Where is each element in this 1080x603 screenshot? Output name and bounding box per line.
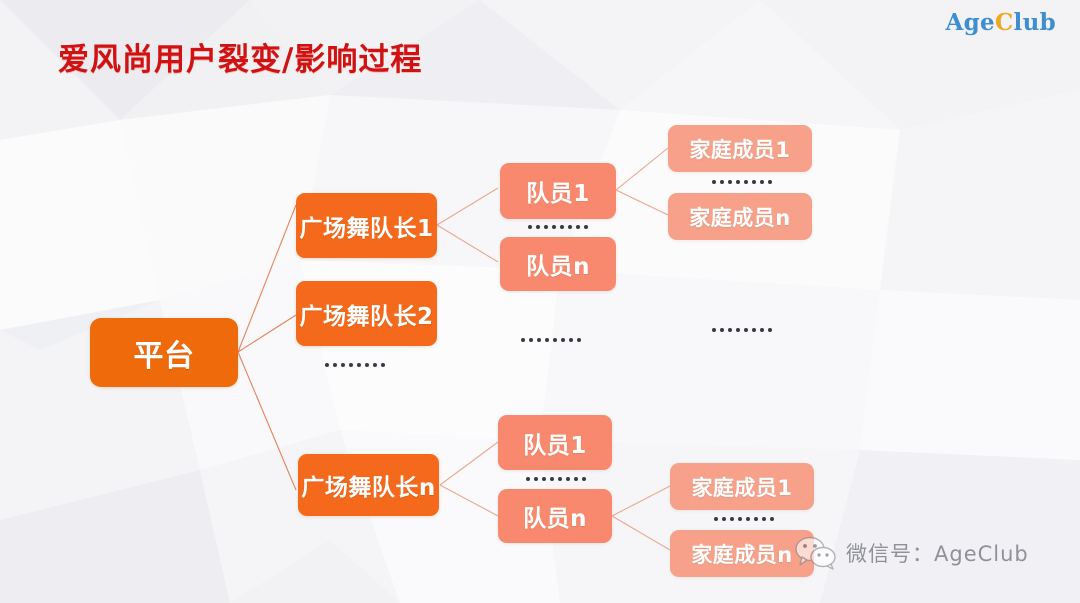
ellipsis-members-top xyxy=(528,225,588,229)
ellipsis-middle-right xyxy=(712,328,772,332)
node-leader-2[interactable]: 广场舞队长2 xyxy=(296,281,437,346)
ellipsis-leaders xyxy=(325,363,385,367)
watermark-text: 微信号：AgeClub xyxy=(846,538,1029,568)
wechat-icon xyxy=(795,536,837,570)
node-leader-1[interactable]: 广场舞队长1 xyxy=(296,193,437,258)
node-member-bottom-n[interactable]: 队员n xyxy=(498,489,612,543)
ellipsis-members-bottom xyxy=(526,477,586,481)
ellipsis-family-bottom xyxy=(714,517,774,521)
wechat-watermark: 微信号：AgeClub xyxy=(795,536,1029,570)
node-family-top-1[interactable]: 家庭成员1 xyxy=(668,125,812,172)
node-platform[interactable]: 平台 xyxy=(90,318,238,387)
logo-part-c: C xyxy=(995,9,1014,36)
ellipsis-family-top xyxy=(712,180,772,184)
logo-part-lub: lub xyxy=(1014,9,1056,36)
node-member-bottom-1[interactable]: 队员1 xyxy=(498,415,612,470)
page-title: 爱风尚用户裂变/影响过程 xyxy=(58,34,422,79)
node-family-bottom-n[interactable]: 家庭成员n xyxy=(670,530,814,577)
node-member-top-1[interactable]: 队员1 xyxy=(500,163,616,219)
node-family-top-n[interactable]: 家庭成员n xyxy=(668,193,812,240)
node-leader-n[interactable]: 广场舞队长n xyxy=(298,454,439,516)
node-family-bottom-1[interactable]: 家庭成员1 xyxy=(670,463,814,510)
ageclub-logo: AgeClub xyxy=(945,9,1056,36)
node-member-top-n[interactable]: 队员n xyxy=(500,237,616,291)
ellipsis-middle-left xyxy=(521,338,581,342)
slide-canvas: 爱风尚用户裂变/影响过程 AgeClub 平台 广场舞队长1 广场舞队长2 广场… xyxy=(0,0,1080,603)
logo-part-age: Age xyxy=(945,9,994,36)
